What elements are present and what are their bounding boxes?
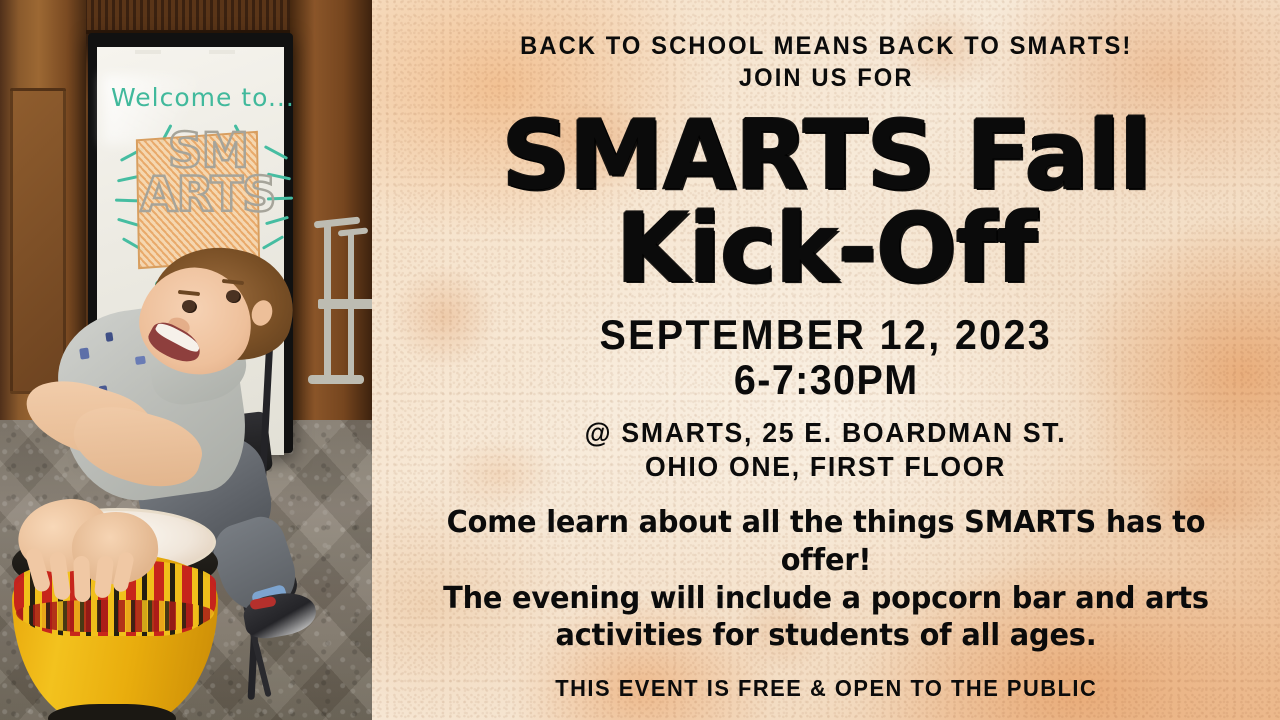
event-description: Come learn about all the things SMARTS h…	[404, 504, 1249, 655]
title-line-2: Kick-Off	[501, 203, 1150, 296]
metal-easel-stand	[296, 205, 362, 383]
venue-line-1: @ SMARTS, 25 E. BOARDMAN ST.	[585, 416, 1067, 450]
free-admission-note: THIS EVENT IS FREE & OPEN TO THE PUBLIC	[555, 675, 1097, 702]
flipchart-welcome-text: Welcome to...	[111, 83, 287, 112]
event-photo: Welcome to... SM ARTS SMARTS	[0, 0, 372, 720]
paper-clip-right	[209, 50, 235, 54]
description-line-1: Come learn about all the things SMARTS h…	[404, 504, 1249, 580]
paper-clip-left	[135, 50, 161, 54]
event-venue: @ SMARTS, 25 E. BOARDMAN ST. OHIO ONE, F…	[585, 416, 1067, 484]
drum-pattern-band-lower	[16, 600, 214, 632]
event-flyer: Welcome to... SM ARTS SMARTS	[0, 0, 1280, 720]
event-date: SEPTEMBER 12, 2023	[600, 312, 1053, 357]
flyer-text-panel: BACK TO SCHOOL MEANS BACK TO SMARTS! JOI…	[372, 0, 1280, 720]
description-line-3: activities for students of all ages.	[404, 617, 1249, 655]
event-title: SMARTS Fall Kick-Off	[501, 110, 1150, 296]
flyer-eyebrow: BACK TO SCHOOL MEANS BACK TO SMARTS! JOI…	[520, 30, 1132, 94]
logo-line-2: ARTS	[133, 173, 283, 217]
finger-3	[73, 556, 91, 603]
description-line-2: The evening will include a popcorn bar a…	[404, 580, 1249, 618]
event-time: 6-7:30PM	[734, 358, 919, 402]
drum-base	[48, 704, 176, 720]
eyebrow-line-1: BACK TO SCHOOL MEANS BACK TO SMARTS!	[520, 30, 1132, 62]
venue-line-2: OHIO ONE, FIRST FLOOR	[585, 450, 1067, 484]
eyebrow-line-2: JOIN US FOR	[520, 62, 1132, 94]
